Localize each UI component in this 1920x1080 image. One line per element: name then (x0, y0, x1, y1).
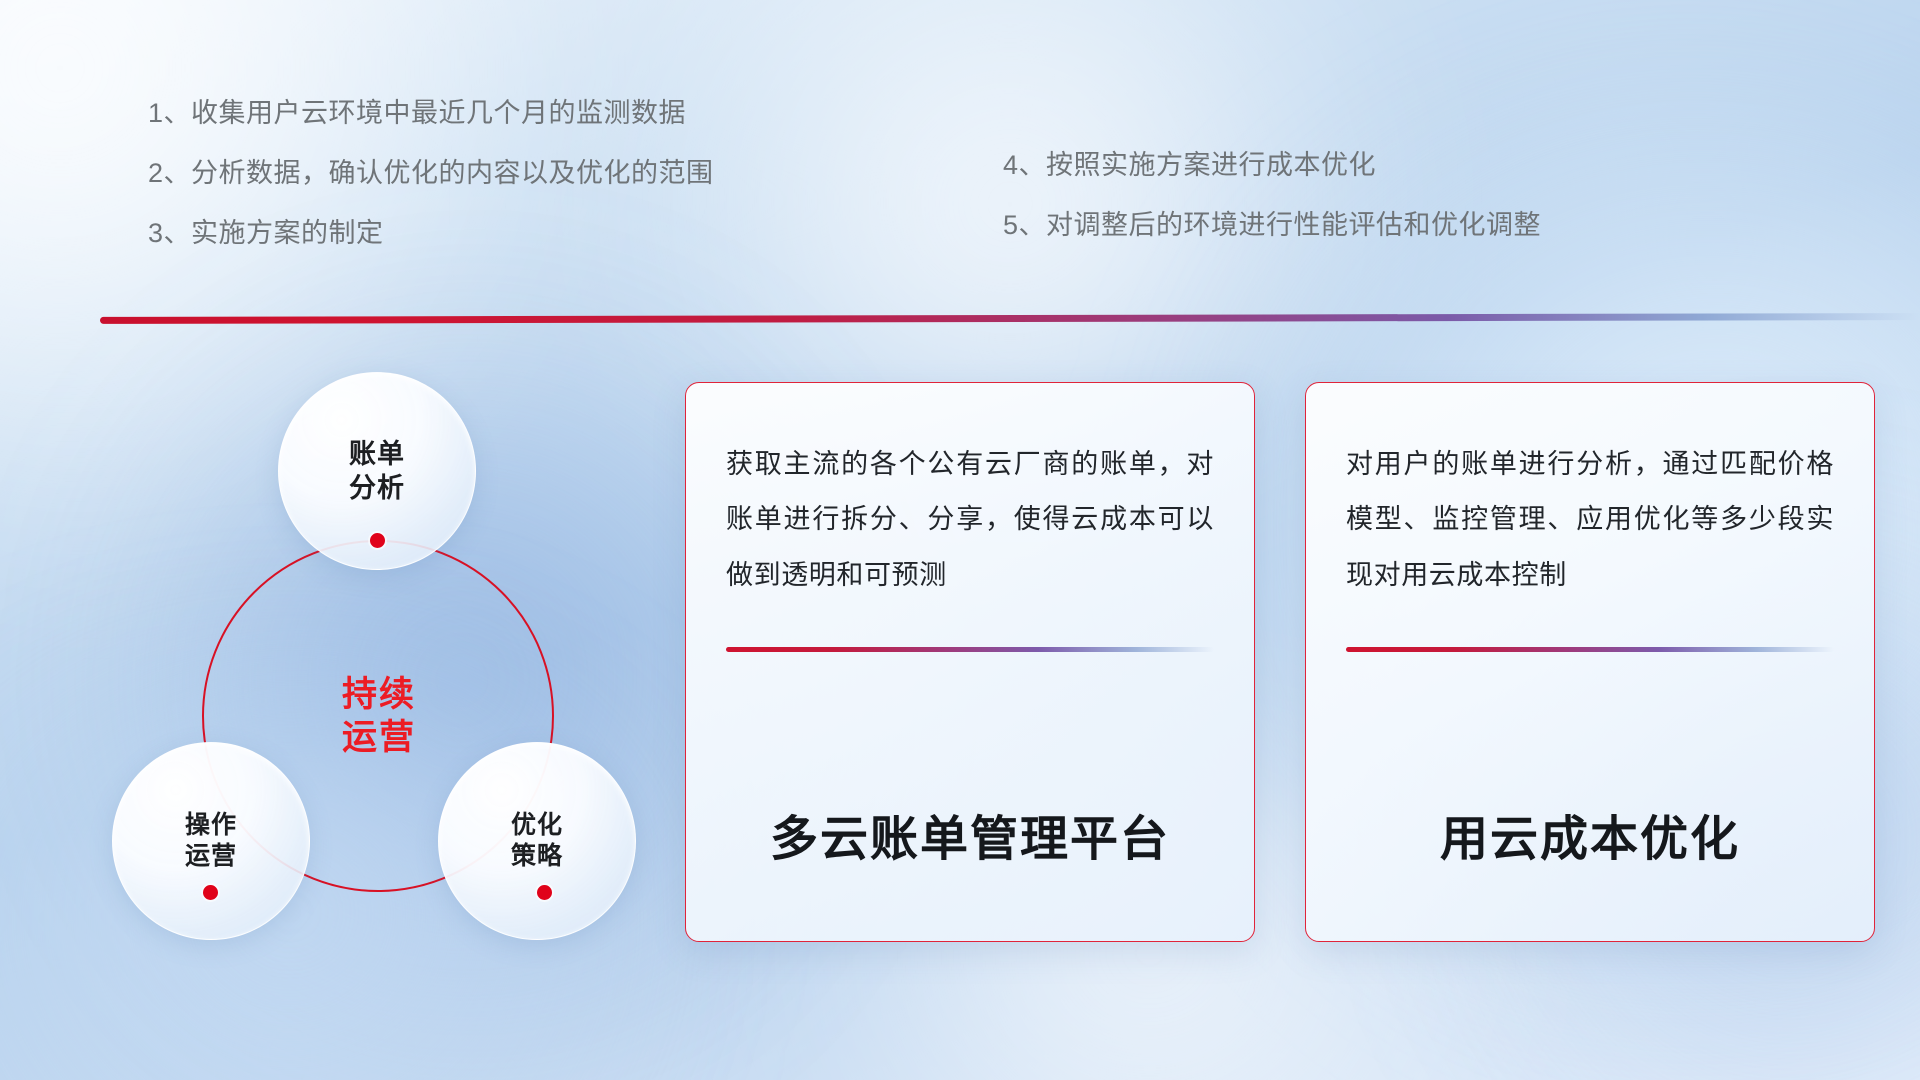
diagram-node-operations[interactable]: 操作 运营 (112, 742, 310, 940)
center-label-line-2: 运营 (259, 717, 499, 760)
card-divider (1346, 647, 1834, 652)
node-label-line-1: 优化 (511, 810, 563, 842)
diagram-node-optimization-strategy[interactable]: 优化 策略 (438, 742, 636, 940)
slide-canvas: 1、收集用户云环境中最近几个月的监测数据 2、分析数据，确认优化的内容以及优化的… (0, 0, 1920, 1080)
continuous-operation-diagram: 持续 运营 账单 分析 操作 运营 优化 策略 (100, 352, 640, 952)
node-label-line-1: 操作 (185, 810, 237, 842)
diagram-center-label: 持续 运营 (259, 674, 499, 759)
card-description: 获取主流的各个公有云厂商的账单，对账单进行拆分、分享，使得云成本可以做到透明和可… (726, 437, 1214, 603)
center-label-line-1: 持续 (259, 674, 499, 717)
node-label-line-2: 分析 (349, 471, 405, 505)
step-item-1: 1、收集用户云环境中最近几个月的监测数据 (148, 100, 714, 127)
connector-dot-right (537, 885, 552, 900)
step-item-2: 2、分析数据，确认优化的内容以及优化的范围 (148, 160, 714, 187)
node-label-line-2: 策略 (511, 841, 563, 873)
connector-dot-left (203, 885, 218, 900)
feature-card-multicloud-billing[interactable]: 获取主流的各个公有云厂商的账单，对账单进行拆分、分享，使得云成本可以做到透明和可… (685, 382, 1255, 942)
connector-dot-top (370, 533, 385, 548)
step-item-3: 3、实施方案的制定 (148, 220, 714, 247)
node-label-line-2: 运营 (185, 841, 237, 873)
card-divider (726, 647, 1214, 652)
step-item-5: 5、对调整后的环境进行性能评估和优化调整 (1003, 212, 1541, 239)
card-title: 多云账单管理平台 (726, 799, 1214, 869)
steps-list-right: 4、按照实施方案进行成本优化 5、对调整后的环境进行性能评估和优化调整 (1003, 152, 1541, 272)
steps-list-left: 1、收集用户云环境中最近几个月的监测数据 2、分析数据，确认优化的内容以及优化的… (148, 100, 714, 280)
node-label-line-1: 账单 (349, 437, 405, 471)
card-title: 用云成本优化 (1346, 799, 1834, 869)
card-description: 对用户的账单进行分析，通过匹配价格模型、监控管理、应用优化等多少段实现对用云成本… (1346, 437, 1834, 603)
step-item-4: 4、按照实施方案进行成本优化 (1003, 152, 1541, 179)
feature-card-cloud-cost-optimization[interactable]: 对用户的账单进行分析，通过匹配价格模型、监控管理、应用优化等多少段实现对用云成本… (1305, 382, 1875, 942)
